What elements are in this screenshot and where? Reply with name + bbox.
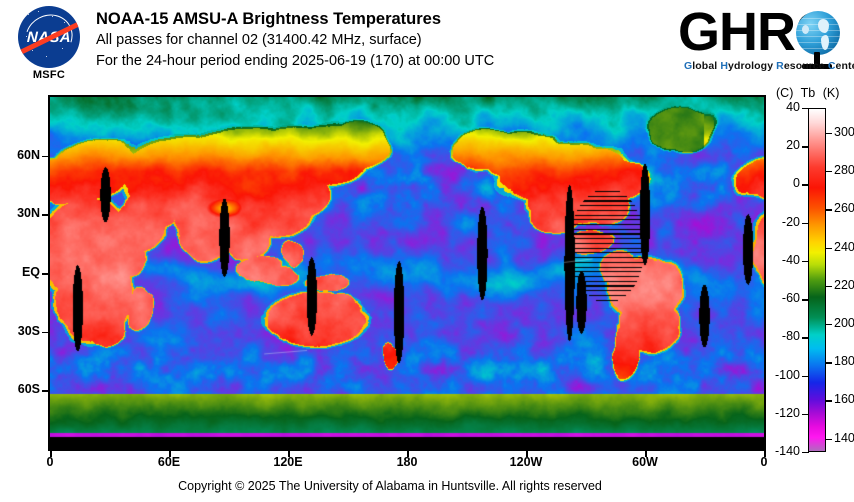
page-title: NOAA-15 AMSU-A Brightness Temperatures [96, 8, 494, 30]
colorbar-celsius-tick [802, 108, 809, 109]
longitude-tick-label: 0 [734, 455, 794, 469]
colorbar-kelvin-label: 220 [834, 278, 854, 292]
colorbar-kelvin-tick [825, 133, 832, 134]
colorbar-celsius-tick [802, 184, 809, 185]
colorbar-celsius-label: 0 [764, 176, 800, 190]
colorbar-celsius-label: -60 [764, 291, 800, 305]
colorbar-kelvin-label: 180 [834, 354, 854, 368]
latitude-tick-label: 60N [0, 148, 40, 162]
colorbar-kelvin-label: 300 [834, 125, 854, 139]
colorbar-kelvin-tick [825, 209, 832, 210]
map-plot-area[interactable] [48, 95, 766, 451]
title-block: NOAA-15 AMSU-A Brightness Temperatures A… [96, 8, 494, 72]
latitude-tick-label: 30S [0, 324, 40, 338]
longitude-tick-mark [50, 451, 52, 457]
colorbar-kelvin-label: 200 [834, 316, 854, 330]
tagline-rest: enter [836, 60, 854, 72]
latitude-tick-label: 30N [0, 206, 40, 220]
colorbar-celsius-label: -20 [764, 215, 800, 229]
colorbar-celsius-label: -120 [764, 406, 800, 420]
colorbar-kelvin-label: 140 [834, 431, 854, 445]
latitude-tick-label: 60S [0, 382, 40, 396]
latitude-axis: 60N30NEQ30S60S [0, 0, 42, 502]
longitude-tick-label: 180 [377, 455, 437, 469]
colorbar-kelvin-tick [825, 324, 832, 325]
colorbar-celsius-tick [802, 223, 809, 224]
colorbar-kelvin-tick [825, 362, 832, 363]
colorbar-kelvin-label: 240 [834, 240, 854, 254]
longitude-tick-label: 60W [615, 455, 675, 469]
colorbar-celsius-scale: 40200-20-40-60-80-100-120-140 [762, 0, 800, 502]
colorbar-variable: Tb [801, 86, 816, 100]
colorbar-celsius-label: 20 [764, 138, 800, 152]
colorbar-kelvin-tick [825, 248, 832, 249]
tagline-cap: C [828, 60, 836, 72]
tagline-cap: H [720, 60, 728, 72]
colorbar-celsius-label: -80 [764, 329, 800, 343]
colorbar-celsius-tick [802, 376, 809, 377]
longitude-tick-label: 120W [496, 455, 556, 469]
colorbar-celsius-tick [802, 146, 809, 147]
colorbar-kelvin-tick [825, 286, 832, 287]
latitude-tick-mark [42, 332, 48, 334]
longitude-tick-mark [645, 451, 647, 457]
tagline-rest: lobal [692, 60, 720, 72]
colorbar-kelvin-tick [825, 439, 832, 440]
globe-icon [796, 11, 840, 55]
colorbar-kelvin-tick [825, 400, 832, 401]
colorbar-gradient [808, 108, 826, 452]
colorbar-unit-kelvin: (K) [823, 86, 840, 100]
longitude-tick-mark [169, 451, 171, 457]
subtitle-channel: All passes for channel 02 (31400.42 MHz,… [96, 30, 494, 51]
colorbar-celsius-label: 40 [764, 100, 800, 114]
colorbar-celsius-tick [802, 337, 809, 338]
latitude-tick-mark [42, 156, 48, 158]
copyright-notice: Copyright © 2025 The University of Alaba… [0, 479, 780, 493]
colorbar-celsius-tick [802, 299, 809, 300]
longitude-tick-mark [288, 451, 290, 457]
longitude-tick-mark [764, 451, 766, 457]
longitude-tick-label: 120E [258, 455, 318, 469]
latitude-tick-label: EQ [0, 265, 40, 279]
colorbar-celsius-tick [802, 452, 809, 453]
latitude-tick-mark [42, 390, 48, 392]
longitude-tick-mark [526, 451, 528, 457]
longitude-tick-mark [407, 451, 409, 457]
colorbar-kelvin-label: 160 [834, 392, 854, 406]
colorbar-kelvin-label: 260 [834, 201, 854, 215]
colorbar-kelvin-tick [825, 171, 832, 172]
colorbar-celsius-tick [802, 261, 809, 262]
longitude-tick-label: 60E [139, 455, 199, 469]
longitude-tick-label: 0 [20, 455, 80, 469]
latitude-tick-mark [42, 273, 48, 275]
brightness-temperature-heatmap [50, 97, 764, 449]
colorbar-celsius-label: -100 [764, 368, 800, 382]
subtitle-period: For the 24-hour period ending 2025-06-19… [96, 51, 494, 72]
colorbar-celsius-label: -40 [764, 253, 800, 267]
colorbar-celsius-tick [802, 414, 809, 415]
colorbar-kelvin-label: 280 [834, 163, 854, 177]
latitude-tick-mark [42, 214, 48, 216]
